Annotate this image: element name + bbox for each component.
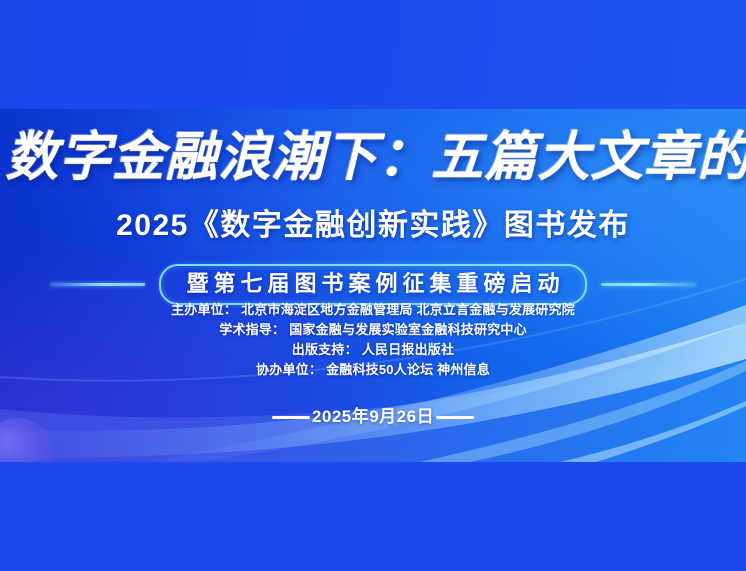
credits-block: 主办单位：北京市海淀区地方金融管理局 北京立言金融与发展研究院 学术指导：国家金… xyxy=(0,301,746,379)
credit-value: 国家金融与发展实验室金融科技研究中心 xyxy=(289,322,527,337)
event-date-row: 2025年9月26日 xyxy=(0,406,746,428)
background-top-band xyxy=(0,0,746,109)
credit-value: 北京市海淀区地方金融管理局 北京立言金融与发展研究院 xyxy=(241,302,575,317)
credit-value: 金融科技50人论坛 神州信息 xyxy=(326,362,490,377)
highlight-row: 暨第七届图书案例征集重磅启动 xyxy=(0,264,746,305)
rule-right xyxy=(601,283,696,286)
event-date: 2025年9月26日 xyxy=(310,406,436,428)
credit-line: 出版支持：人民日报出版社 xyxy=(292,341,454,359)
rule-left xyxy=(50,283,145,286)
event-banner: 数字金融浪潮下：五篇大文章的破局与重构 2025《数字金融创新实践》图书发布 暨… xyxy=(0,109,746,462)
page-title: 数字金融浪潮下：五篇大文章的破局与重构 xyxy=(6,127,741,189)
highlight-pill: 暨第七届图书案例征集重磅启动 xyxy=(159,264,586,305)
credit-line: 学术指导：国家金融与发展实验室金融科技研究中心 xyxy=(219,321,527,339)
credit-label: 出版支持： xyxy=(292,342,358,357)
poster-image: 数字金融浪潮下：五篇大文章的破局与重构 2025《数字金融创新实践》图书发布 暨… xyxy=(0,0,746,571)
credit-label: 学术指导： xyxy=(219,322,285,337)
date-dash-right xyxy=(436,416,474,419)
credit-label: 主办单位： xyxy=(171,302,237,317)
credit-line: 协办单位：金融科技50人论坛 神州信息 xyxy=(256,361,490,379)
credit-line: 主办单位：北京市海淀区地方金融管理局 北京立言金融与发展研究院 xyxy=(171,301,575,319)
date-dash-left xyxy=(272,416,310,419)
credit-label: 协办单位： xyxy=(256,362,322,377)
background-bottom-band xyxy=(0,462,746,571)
banner-content: 数字金融浪潮下：五篇大文章的破局与重构 2025《数字金融创新实践》图书发布 暨… xyxy=(0,109,746,462)
credit-value: 人民日报出版社 xyxy=(362,342,454,357)
sub-title: 2025《数字金融创新实践》图书发布 xyxy=(0,207,746,245)
